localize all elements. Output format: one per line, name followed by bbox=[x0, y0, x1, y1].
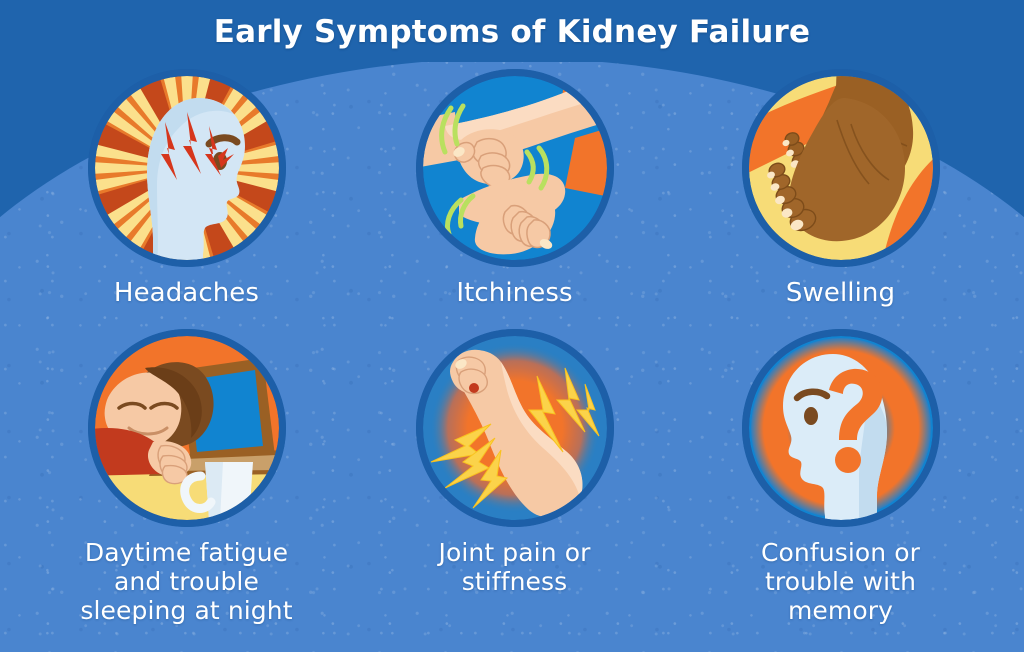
swelling-icon-wrap bbox=[741, 68, 941, 268]
symptom-card-joint-pain: Joint pain or stiffness bbox=[344, 328, 685, 596]
symptom-label-itchiness: Itchiness bbox=[344, 278, 685, 308]
symptom-grid: Headaches bbox=[0, 62, 1024, 652]
headaches-icon-wrap bbox=[87, 68, 287, 268]
symptom-label-headaches: Headaches bbox=[16, 278, 357, 308]
person-sleeping-at-desk-icon bbox=[87, 328, 287, 528]
confusion-icon-wrap bbox=[741, 328, 941, 528]
page-title: Early Symptoms of Kidney Failure bbox=[0, 14, 1024, 50]
hands-scratching-arm-icon bbox=[415, 68, 615, 268]
symptom-label-confusion: Confusion or trouble with memory bbox=[670, 538, 1011, 625]
symptom-card-confusion: Confusion or trouble with memory bbox=[670, 328, 1011, 625]
joint-pain-icon-wrap bbox=[415, 328, 615, 528]
head-with-lightning-bolts-icon bbox=[87, 68, 287, 268]
symptom-card-itchiness: Itchiness bbox=[344, 68, 685, 308]
symptom-card-daytime-fatigue: Daytime fatigue and trouble sleeping at … bbox=[16, 328, 357, 625]
symptom-label-daytime-fatigue: Daytime fatigue and trouble sleeping at … bbox=[16, 538, 357, 625]
head-with-question-mark-icon bbox=[741, 328, 941, 528]
itchiness-icon-wrap bbox=[415, 68, 615, 268]
swollen-feet-icon bbox=[741, 68, 941, 268]
symptom-card-headaches: Headaches bbox=[16, 68, 357, 308]
symptom-card-swelling: Swelling bbox=[670, 68, 1011, 308]
daytime-fatigue-icon-wrap bbox=[87, 328, 287, 528]
painful-elbow-joint-icon bbox=[415, 328, 615, 528]
symptom-label-swelling: Swelling bbox=[670, 278, 1011, 308]
symptom-label-joint-pain: Joint pain or stiffness bbox=[344, 538, 685, 596]
infographic-canvas: Early Symptoms of Kidney Failure bbox=[0, 0, 1024, 652]
